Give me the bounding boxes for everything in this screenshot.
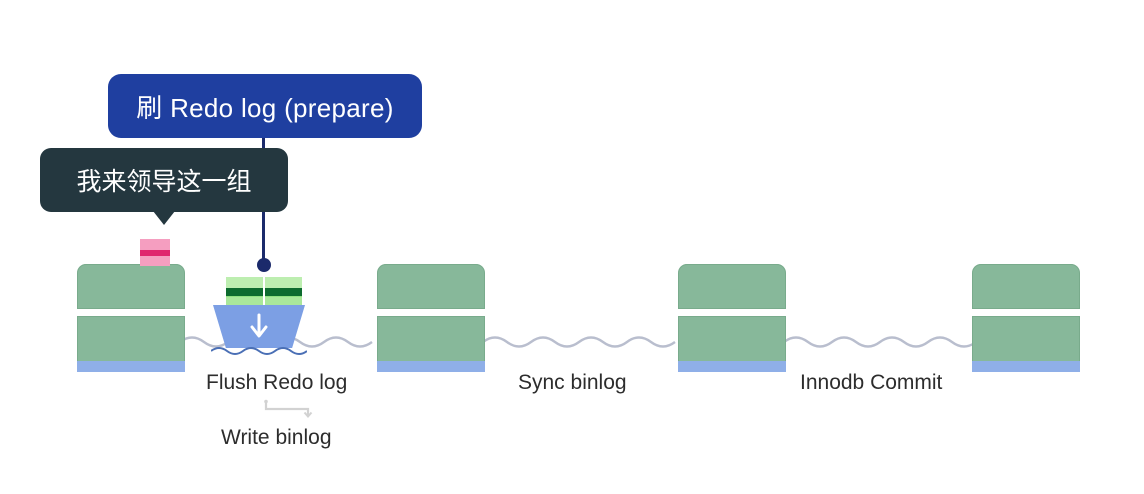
pink-cargo-stripe — [140, 250, 170, 256]
green-container-2-top — [265, 277, 302, 288]
dock-2-upper — [377, 264, 485, 309]
green-container-2 — [265, 277, 302, 308]
stage-label-sync-binlog: Sync binlog — [518, 371, 627, 395]
green-container-1-stripe — [226, 288, 263, 296]
pink-cargo-box — [140, 239, 170, 266]
leader-tooltip[interactable]: 我来领导这一组 — [40, 148, 288, 212]
stage-label-flush-redo-log: Flush Redo log — [206, 371, 347, 395]
dock-3-waterline — [678, 361, 786, 372]
anchor-down-arrow-icon — [249, 313, 269, 339]
callout-connector-dot — [257, 258, 271, 272]
stage-label-innodb-commit: Innodb Commit — [800, 371, 942, 395]
redo-log-prepare-callout-label: 刷 Redo log (prepare) — [136, 88, 393, 125]
dock-1-upper — [77, 264, 185, 309]
dock-4-upper — [972, 264, 1080, 309]
dock-1-waterline — [77, 361, 185, 372]
dock-3-lower — [678, 316, 786, 372]
leader-tooltip-tail — [153, 211, 175, 225]
dock-4-waterline — [972, 361, 1080, 372]
water-wave-mid-left — [483, 330, 689, 354]
dock-1-lower — [77, 316, 185, 372]
write-binlog-arrow-icon — [262, 398, 314, 420]
boat-wake-wave — [211, 343, 307, 359]
dock-2-waterline — [377, 361, 485, 372]
green-container-2-stripe — [265, 288, 302, 296]
green-container-1-top — [226, 277, 263, 288]
leader-tooltip-label: 我来领导这一组 — [76, 162, 251, 198]
cargo-boat — [213, 277, 305, 352]
dock-3-upper — [678, 264, 786, 309]
stage-label-write-binlog: Write binlog — [221, 426, 332, 450]
redo-log-prepare-callout[interactable]: 刷 Redo log (prepare) — [108, 74, 422, 138]
water-wave-mid-right — [784, 330, 974, 354]
dock-4-lower — [972, 316, 1080, 372]
diagram-canvas: 刷 Redo log (prepare) 我来领导这一组 Flush Redo … — [0, 0, 1144, 494]
green-container-1 — [226, 277, 263, 308]
dock-2-lower — [377, 316, 485, 372]
